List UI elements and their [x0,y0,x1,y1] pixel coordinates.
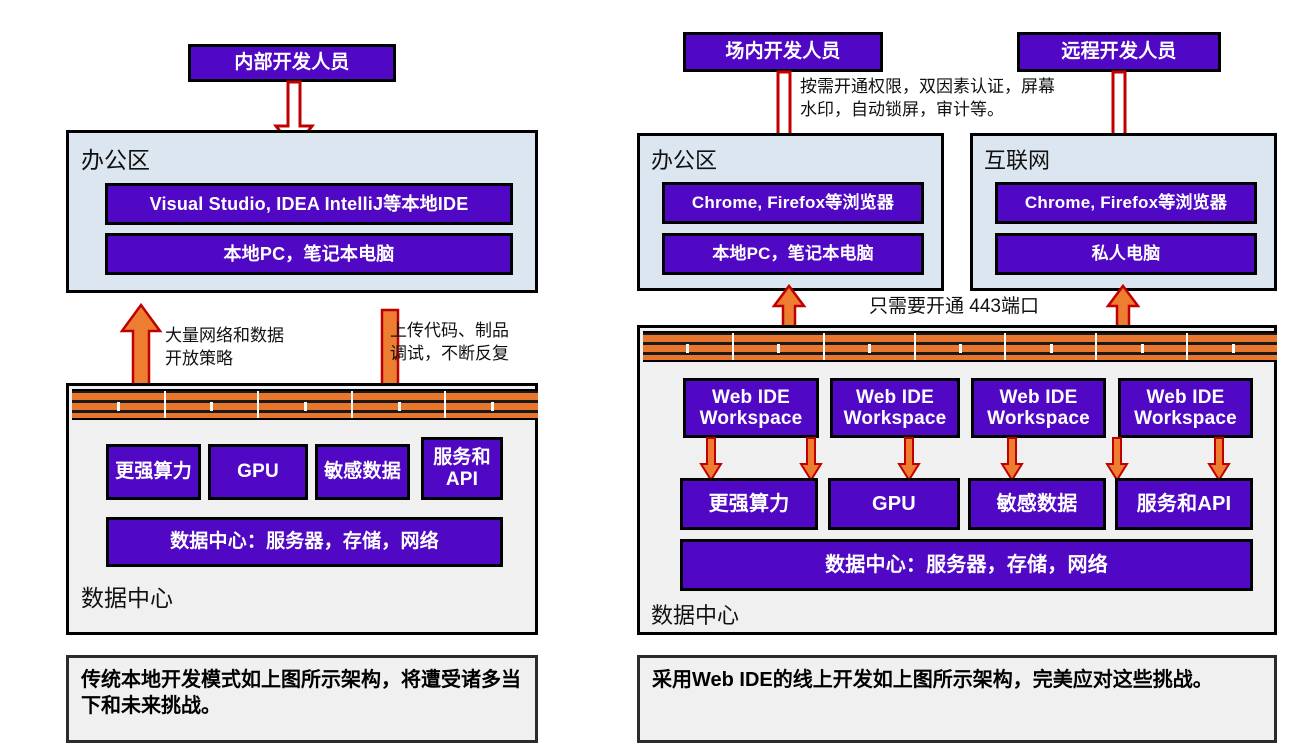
right-caption-text: 采用Web IDE的线上开发如上图所示架构，完美应对这些挑战。 [652,669,1213,691]
left-actor-box: 内部开发人员 [188,44,396,82]
right-workspace-1-label: Web IDE Workspace [844,387,947,430]
right-actor-box-0: 场内开发人员 [683,32,883,72]
left-infra-label: 数据中心：服务器，存储，网络 [170,531,439,552]
right-datacenter-label: 数据中心 [651,598,739,630]
right-office-item-1: 本地PC，笔记本电脑 [662,233,924,275]
left-datacenter-label: 数据中心 [81,579,173,613]
arrow-down-solid-icon-2 [898,438,920,482]
right-workspace-3-label: Web IDE Workspace [1134,387,1237,430]
right-internet-zone-label: 互联网 [984,143,1050,175]
left-note-1: 上传代码、制品 调试，不断反复 [390,320,509,366]
left-caption-box: 传统本地开发模式如上图所示架构，将遭受诸多当下和未来挑战。 [66,655,538,743]
firewall-segment [259,391,353,418]
left-note-0: 大量网络和数据 开放策略 [165,325,284,371]
right-internet-item-1-label: 私人电脑 [1092,244,1161,263]
brick-wall-icon-left [72,389,538,420]
arrow-down-solid-icon-5 [1208,438,1230,482]
firewall-segment [825,333,916,360]
right-workspace-1: Web IDE Workspace [830,378,960,438]
left-resource-0: 更强算力 [106,444,201,500]
arrow-down-solid-icon-1 [800,438,822,482]
left-resource-2-label: 敏感数据 [324,461,401,482]
left-caption-text: 传统本地开发模式如上图所示架构，将遭受诸多当下和未来挑战。 [81,669,521,717]
right-workspace-0: Web IDE Workspace [683,378,819,438]
right-workspace-0-label: Web IDE Workspace [700,387,803,430]
right-internet-item-0-label: Chrome, Firefox等浏览器 [1025,193,1227,212]
right-office-item-1-label: 本地PC，笔记本电脑 [712,244,874,263]
firewall-segment [1097,333,1188,360]
left-resource-2: 敏感数据 [315,444,410,500]
firewall-segment [72,391,166,418]
right-resource-1: GPU [828,478,960,530]
left-resource-1: GPU [208,444,308,500]
right-security-note: 按需开通权限，双因素认证，屏幕水印，自动锁屏，审计等。 [800,76,1070,122]
right-infra-label: 数据中心：服务器，存储，网络 [825,554,1108,576]
left-resource-1-label: GPU [237,461,279,482]
left-zone-item-1: 本地PC，笔记本电脑 [105,233,513,275]
right-resource-0: 更强算力 [680,478,818,530]
right-workspace-2-label: Web IDE Workspace [987,387,1090,430]
right-resource-2: 敏感数据 [968,478,1106,530]
left-datacenter-box: 更强算力 GPU 敏感数据 服务和 API 数据中心：服务器，存储，网络 数据中… [66,383,538,635]
right-resource-3-label: 服务和API [1137,493,1232,515]
firewall-segment [1188,333,1277,360]
diagram-canvas: 内部开发人员 办公区 Visual Studio, IDEA IntelliJ等… [0,0,1292,756]
right-internet-zone: 互联网 Chrome, Firefox等浏览器 私人电脑 [970,133,1277,291]
firewall-segment [734,333,825,360]
right-resource-3: 服务和API [1115,478,1253,530]
brick-wall-icon-right [643,331,1277,362]
right-actor-1-label: 远程开发人员 [1061,41,1176,62]
left-office-zone-label: 办公区 [81,141,150,175]
right-workspace-2: Web IDE Workspace [971,378,1106,438]
left-resource-3-label: 服务和 API [433,447,491,490]
right-office-zone: 办公区 Chrome, Firefox等浏览器 本地PC，笔记本电脑 [637,133,944,291]
right-office-zone-label: 办公区 [651,143,717,175]
right-port-note: 只需要开通 443端口 [869,294,1039,320]
arrow-down-solid-icon-0 [700,438,722,482]
right-resource-2-label: 敏感数据 [997,493,1078,515]
left-actor-label: 内部开发人员 [234,52,349,73]
left-zone-item-0: Visual Studio, IDEA IntelliJ等本地IDE [105,183,513,225]
right-office-item-0: Chrome, Firefox等浏览器 [662,182,924,224]
right-caption-box: 采用Web IDE的线上开发如上图所示架构，完美应对这些挑战。 [637,655,1277,743]
right-actor-0-label: 场内开发人员 [725,41,840,62]
firewall-segment [446,391,538,418]
left-zone-item-1-label: 本地PC，笔记本电脑 [223,244,394,264]
left-infra-box: 数据中心：服务器，存储，网络 [106,517,503,567]
left-office-zone: 办公区 Visual Studio, IDEA IntelliJ等本地IDE 本… [66,130,538,293]
right-internet-item-0: Chrome, Firefox等浏览器 [995,182,1257,224]
firewall-segment [643,333,734,360]
firewall-segment [353,391,447,418]
left-resource-3: 服务和 API [421,437,503,500]
right-resource-0-label: 更强算力 [709,493,790,515]
right-internet-item-1: 私人电脑 [995,233,1257,275]
right-datacenter-box: Web IDE Workspace Web IDE Workspace Web … [637,325,1277,635]
left-zone-item-0-label: Visual Studio, IDEA IntelliJ等本地IDE [150,194,469,214]
right-resource-1-label: GPU [872,493,916,515]
left-resource-0-label: 更强算力 [115,461,192,482]
right-office-item-0-label: Chrome, Firefox等浏览器 [692,193,894,212]
firewall-segment [916,333,1007,360]
arrow-down-solid-icon-4 [1106,438,1128,482]
right-actor-box-1: 远程开发人员 [1017,32,1221,72]
right-workspace-3: Web IDE Workspace [1118,378,1253,438]
firewall-segment [166,391,260,418]
firewall-segment [1006,333,1097,360]
right-infra-box: 数据中心：服务器，存储，网络 [680,539,1253,591]
arrow-down-solid-icon-3 [1001,438,1023,482]
